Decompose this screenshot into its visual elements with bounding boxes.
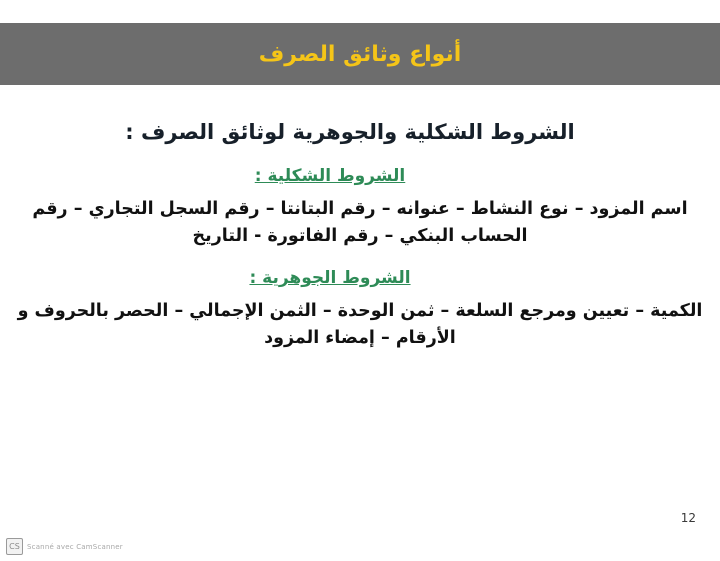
page-number: 12: [681, 511, 696, 525]
section-heading-substantive: الشروط الجوهرية :: [10, 268, 710, 288]
slide-canvas: أنواع وثائق الصرف الشروط الشكلية والجوهر…: [0, 0, 720, 561]
camscanner-badge-icon: CS: [6, 538, 23, 555]
section-heading-formal: الشروط الشكلية :: [10, 166, 710, 186]
title-banner: أنواع وثائق الصرف: [0, 23, 720, 85]
page-title: أنواع وثائق الصرف: [259, 42, 462, 67]
main-heading: الشروط الشكلية والجوهرية لوثائق الصرف :: [10, 120, 710, 144]
section-body-formal: اسم المزود – نوع النشاط – عنوانه – رقم ا…: [10, 196, 710, 250]
camscanner-watermark-text: Scanné avec CamScanner: [27, 543, 123, 551]
slide-content: الشروط الشكلية والجوهرية لوثائق الصرف : …: [10, 120, 710, 353]
section-body-substantive: الكمية – تعيين ومرجع السلعة – ثمن الوحدة…: [10, 298, 710, 352]
camscanner-watermark: CS Scanné avec CamScanner: [6, 538, 123, 555]
